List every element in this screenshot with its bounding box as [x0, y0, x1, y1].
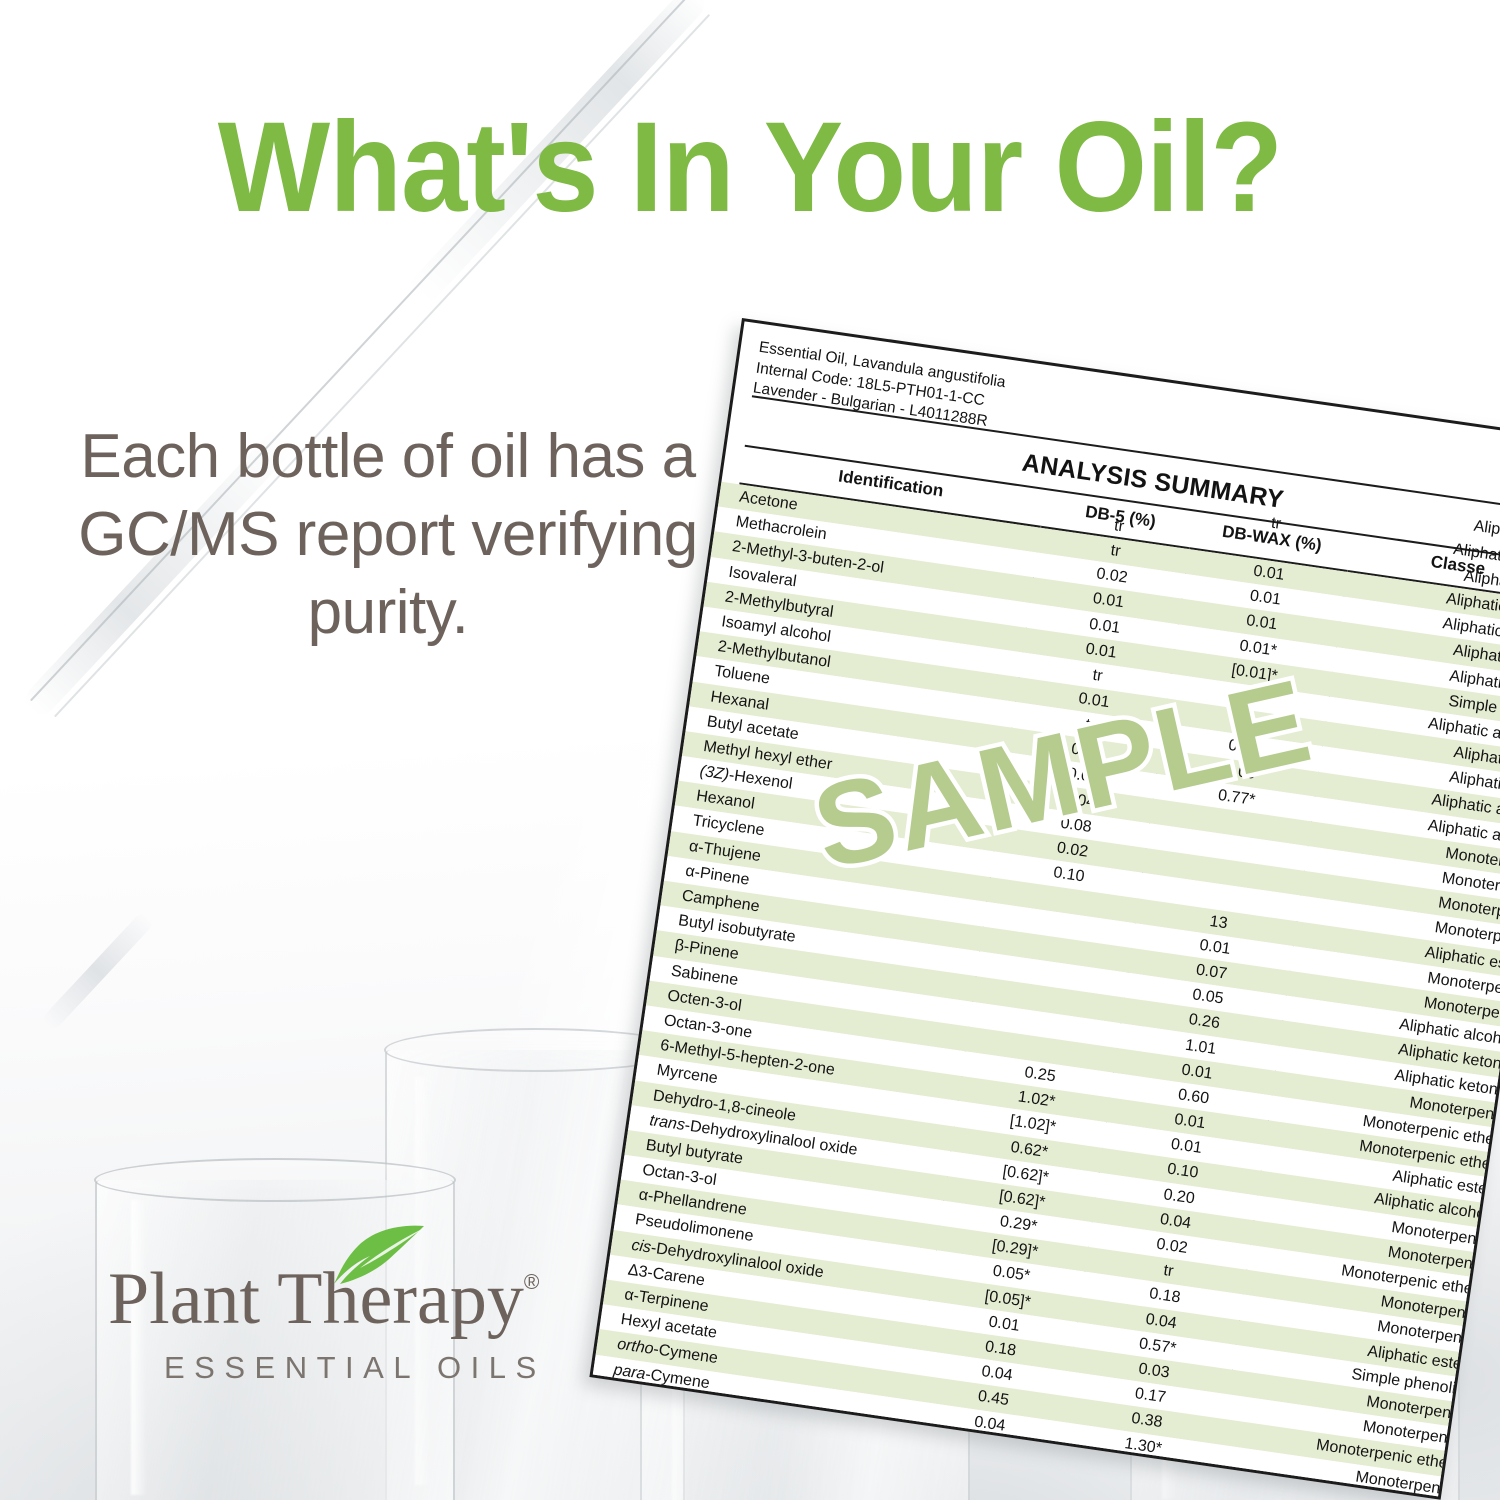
logo-tagline: ESSENTIAL OILS	[164, 1350, 628, 1386]
leaf-icon	[330, 1224, 426, 1286]
beaker-rim	[94, 1158, 456, 1202]
report-paper: Essential Oil, Lavandula angustifoliaInt…	[589, 318, 1500, 1500]
registered-mark: ®	[524, 1271, 539, 1294]
brand-logo: Plant Therapy® ESSENTIAL OILS	[108, 1262, 628, 1386]
logo-wordmark-text: Plant Therapy	[108, 1258, 524, 1340]
page-title: What's In Your Oil?	[53, 104, 1448, 232]
report-table-body: AcetoneMethacrolein2-Methyl-3-buten-2-ol…	[593, 482, 1500, 1497]
subhead-text: Each bottle of oil has a GC/MS report ve…	[58, 418, 718, 652]
marketing-graphic: What's In Your Oil? Each bottle of oil h…	[0, 0, 1500, 1500]
gcms-report-sheet: Essential Oil, Lavandula angustifoliaInt…	[589, 318, 1500, 1500]
